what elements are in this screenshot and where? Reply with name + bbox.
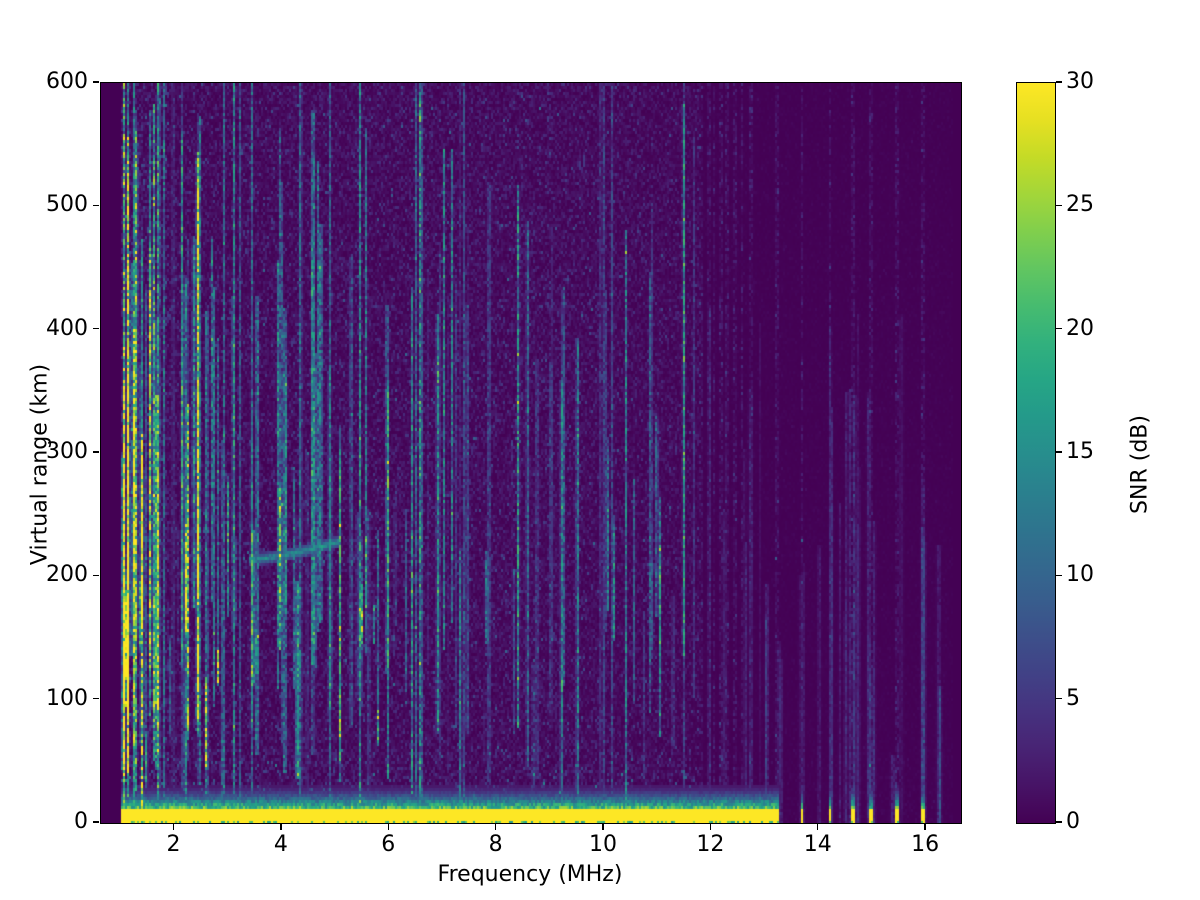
x-tick-mark (602, 824, 603, 830)
x-tick-label: 2 (144, 834, 204, 856)
y-tick-mark (93, 81, 99, 82)
x-tick-label: 16 (895, 834, 955, 856)
heatmap-plot-area[interactable] (100, 82, 962, 824)
colorbar-tick-label: 15 (1066, 441, 1094, 463)
y-tick-label: 0 (74, 811, 88, 833)
x-tick-label: 6 (358, 834, 418, 856)
y-tick-mark (93, 451, 99, 452)
colorbar-gradient (1017, 83, 1055, 823)
ionogram-figure: IRF Uppsala SDR Ionosonde UP158 2025-11-… (0, 0, 1200, 900)
x-tick-label: 12 (680, 834, 740, 856)
colorbar-tick-label: 30 (1066, 71, 1094, 93)
x-tick-mark (924, 824, 925, 830)
colorbar-tick-label: 10 (1066, 564, 1094, 586)
y-tick-mark (93, 698, 99, 699)
colorbar-tick-mark (1056, 821, 1062, 822)
x-tick-mark (280, 824, 281, 830)
x-tick-label: 8 (466, 834, 526, 856)
colorbar-tick-label: 5 (1066, 688, 1080, 710)
x-tick-label: 10 (573, 834, 633, 856)
y-tick-label: 400 (46, 318, 88, 340)
colorbar-tick-mark (1056, 328, 1062, 329)
x-tick-mark (388, 824, 389, 830)
y-axis-label: Virtual range (km) (28, 335, 53, 595)
colorbar-tick-mark (1056, 81, 1062, 82)
colorbar-tick-mark (1056, 575, 1062, 576)
y-tick-label: 200 (46, 564, 88, 586)
colorbar-tick-label: 0 (1066, 811, 1080, 833)
x-tick-mark (495, 824, 496, 830)
ionogram-heatmap (101, 83, 961, 823)
x-tick-label: 4 (251, 834, 311, 856)
x-tick-mark (817, 824, 818, 830)
y-tick-mark (93, 328, 99, 329)
colorbar-tick-label: 25 (1066, 194, 1094, 216)
y-tick-label: 600 (46, 71, 88, 93)
x-tick-label: 14 (788, 834, 848, 856)
colorbar-tick-mark (1056, 451, 1062, 452)
y-tick-label: 300 (46, 441, 88, 463)
colorbar-tick-mark (1056, 205, 1062, 206)
y-tick-label: 500 (46, 194, 88, 216)
colorbar[interactable] (1016, 82, 1056, 824)
x-tick-mark (173, 824, 174, 830)
colorbar-label: SNR (dB) (1128, 335, 1153, 595)
y-tick-label: 100 (46, 688, 88, 710)
colorbar-tick-mark (1056, 698, 1062, 699)
y-tick-mark (93, 575, 99, 576)
y-tick-mark (93, 821, 99, 822)
colorbar-tick-label: 20 (1066, 318, 1094, 340)
x-axis-label: Frequency (MHz) (100, 862, 960, 887)
x-tick-mark (710, 824, 711, 830)
y-tick-mark (93, 205, 99, 206)
